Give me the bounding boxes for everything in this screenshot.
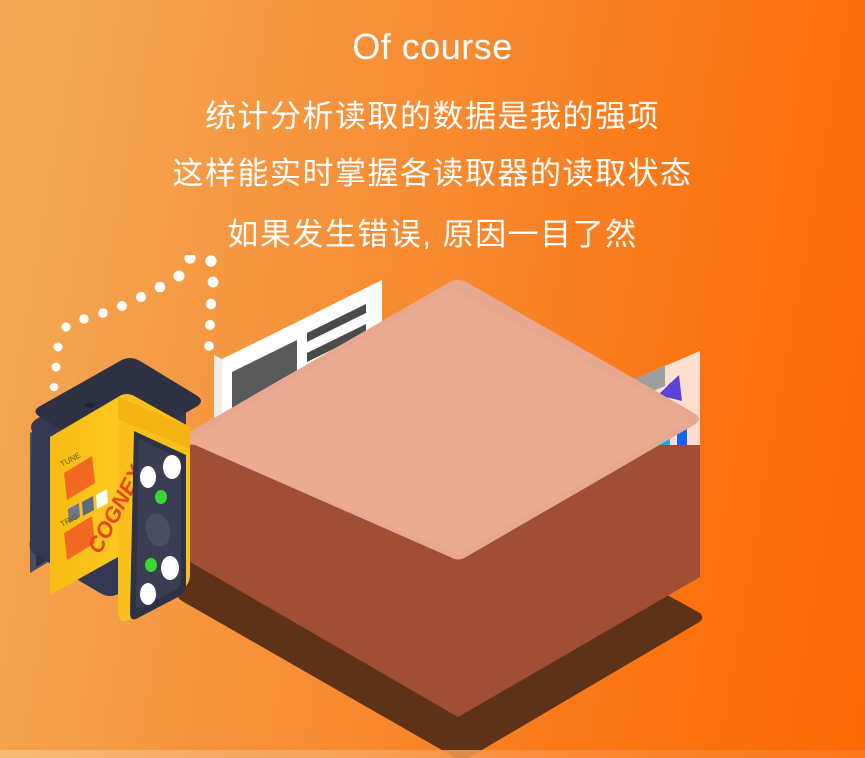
led-ring-bottom-left xyxy=(140,583,156,605)
trail-dot xyxy=(117,301,127,311)
headline-line-2: 这样能实时掌握各读取器的读取状态 xyxy=(0,158,865,189)
trail-dot xyxy=(206,299,216,309)
illustration-scene: TUNE TRIG COGNEX xyxy=(0,255,865,758)
trail-dot xyxy=(204,341,214,351)
led-ring-top-right xyxy=(163,455,181,479)
trail-dot xyxy=(79,314,88,323)
headline-line-3: 如果发生错误, 原因一目了然 xyxy=(0,219,865,250)
trail-dot xyxy=(174,271,185,282)
scanner-lens-panel xyxy=(130,431,186,619)
trail-dot xyxy=(208,277,219,288)
trail-dot xyxy=(136,292,146,302)
status-led-top xyxy=(155,490,167,504)
barcode-scanner: TUNE TRIG COGNEX xyxy=(30,358,201,621)
trail-dot xyxy=(155,282,166,293)
trail-dot xyxy=(54,343,63,352)
headline-block: Of course 统计分析读取的数据是我的强项 这样能实时掌握各读取器的读取状… xyxy=(0,0,865,250)
trail-dot xyxy=(205,255,216,266)
headline-line-1: 统计分析读取的数据是我的强项 xyxy=(0,101,865,132)
bottom-strip xyxy=(0,750,865,758)
trail-dot xyxy=(98,308,108,318)
scanner-screw xyxy=(85,402,95,407)
trail-dot xyxy=(52,363,61,372)
page-title: Of course xyxy=(0,29,865,65)
led-ring-bottom-right xyxy=(161,556,179,580)
promo-banner: Of course 统计分析读取的数据是我的强项 这样能实时掌握各读取器的读取状… xyxy=(0,0,865,758)
led-ring-top-left xyxy=(140,466,156,488)
trail-dot xyxy=(61,322,70,331)
status-led-bottom xyxy=(145,558,157,572)
trail-dot xyxy=(50,383,59,392)
trail-dot xyxy=(184,255,195,264)
trail-dot xyxy=(205,320,215,330)
